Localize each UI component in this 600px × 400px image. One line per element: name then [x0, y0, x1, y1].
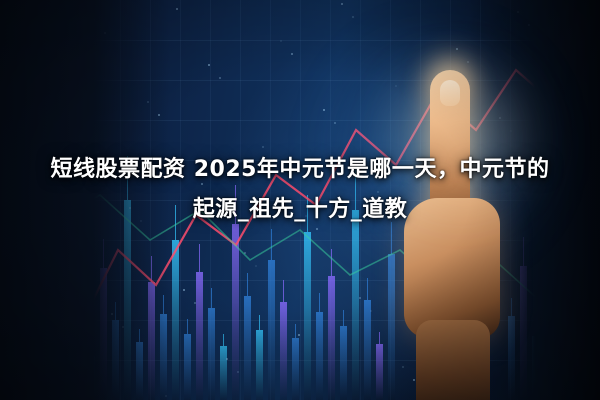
fingernail: [440, 80, 460, 106]
hand-pointing: [400, 70, 520, 400]
stock-photo-illustration: 短线股票配资 2025年中元节是哪一天，中元节的 起源_祖先_十方_道教: [0, 0, 600, 400]
wrist: [416, 320, 490, 400]
caption-text: 短线股票配资 2025年中元节是哪一天，中元节的 起源_祖先_十方_道教: [0, 150, 600, 230]
